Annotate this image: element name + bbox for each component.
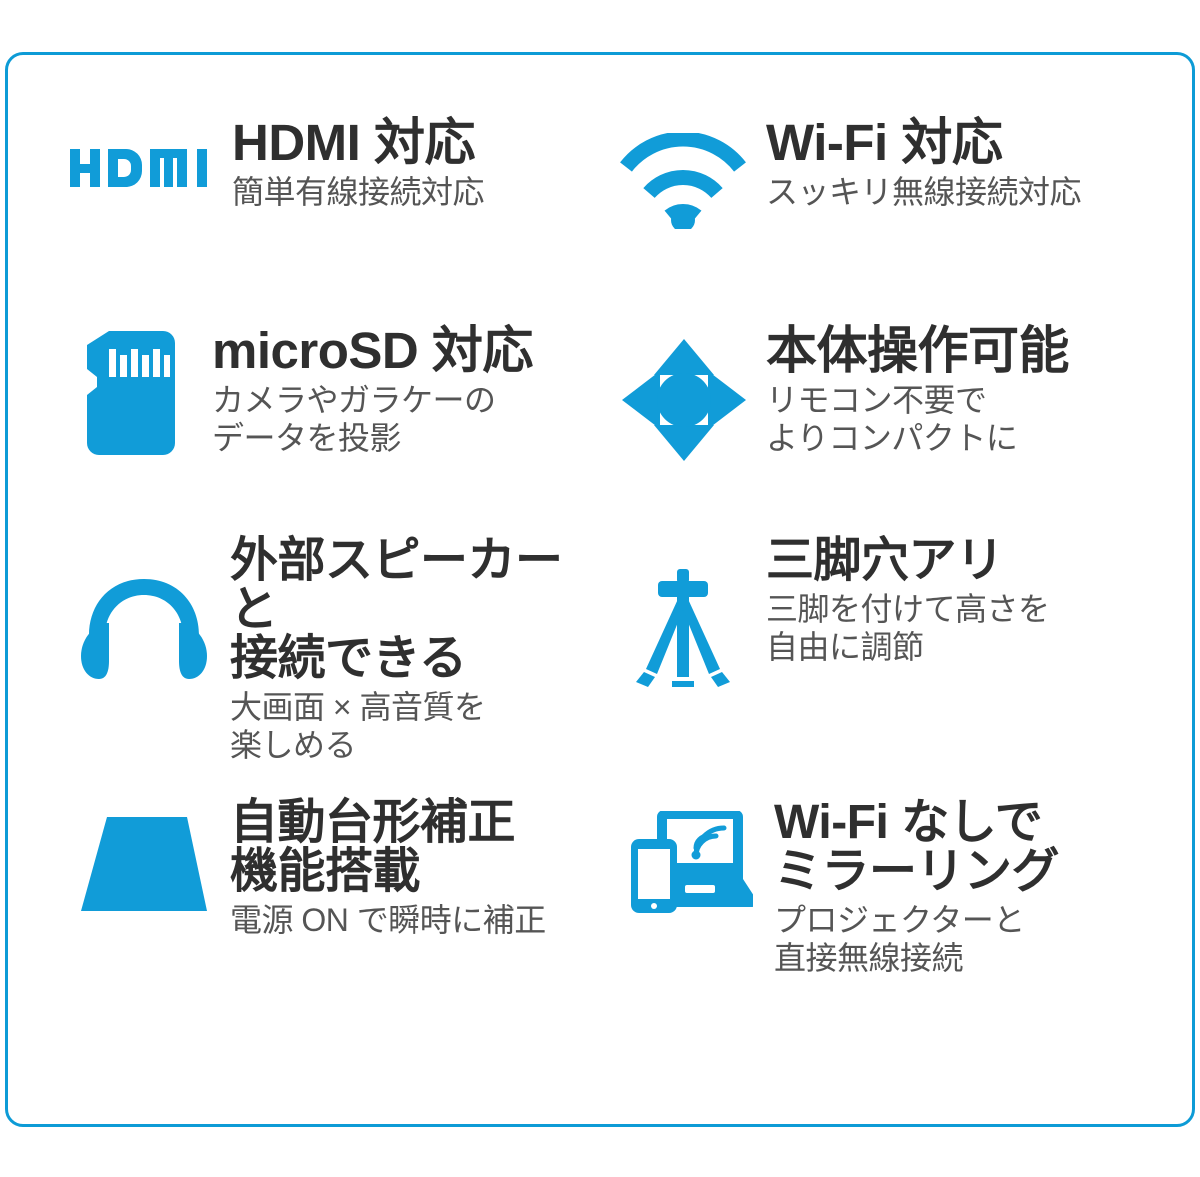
- microsd-card-icon: [70, 323, 192, 455]
- feature-item-tripod: 三脚穴アリ 三脚を付けて高さを 自由に調節: [600, 535, 1192, 797]
- feature-headline: Wi-Fi 対応: [766, 117, 1081, 169]
- feature-text-speaker: 外部スピーカーと 接続できる 大画面 × 高音質を 楽しめる: [230, 535, 600, 764]
- hdmi-logo-icon: [70, 115, 218, 191]
- feature-item-speaker: 外部スピーカーと 接続できる 大画面 × 高音質を 楽しめる: [8, 535, 600, 797]
- laptop-phone-cast-icon: [618, 797, 758, 915]
- feature-subtitle: 三脚を付けて高さを 自由に調節: [766, 591, 1050, 667]
- feature-text-wifi: Wi-Fi 対応 スッキリ無線接続対応: [766, 115, 1081, 212]
- feature-item-mirroring: Wi-Fi なしで ミラーリング プロジェクターと 直接無線接続: [600, 797, 1192, 1082]
- feature-headline: 三脚穴アリ: [766, 537, 1050, 586]
- headphones-icon: [70, 535, 218, 681]
- feature-text-keystone: 自動台形補正 機能搭載 電源 ON で瞬時に補正: [230, 797, 546, 940]
- feature-headline: 本体操作可能: [766, 325, 1069, 377]
- feature-grid: HDMI 対応 簡単有線接続対応 Wi-Fi 対応 スッキリ無線接続対応: [8, 55, 1192, 1124]
- feature-headline: microSD 対応: [212, 325, 533, 377]
- feature-subtitle: 電源 ON で瞬時に補正: [230, 902, 546, 940]
- feature-item-body-control: 本体操作可能 リモコン不要で よりコンパクトに: [600, 323, 1192, 535]
- feature-headline: HDMI 対応: [232, 117, 484, 169]
- tripod-icon: [618, 535, 748, 687]
- feature-subtitle: 大画面 × 高音質を 楽しめる: [230, 689, 600, 765]
- feature-item-microsd: microSD 対応 カメラやガラケーの データを投影: [8, 323, 600, 535]
- feature-text-tripod: 三脚穴アリ 三脚を付けて高さを 自由に調節: [766, 535, 1050, 666]
- feature-subtitle: リモコン不要で よりコンパクトに: [766, 382, 1069, 458]
- feature-subtitle: プロジェクターと 直接無線接続: [774, 902, 1059, 978]
- feature-subtitle: スッキリ無線接続対応: [766, 174, 1081, 212]
- feature-text-hdmi: HDMI 対応 簡単有線接続対応: [232, 115, 484, 212]
- trapezoid-keystone-icon: [70, 797, 218, 913]
- feature-item-wifi: Wi-Fi 対応 スッキリ無線接続対応: [600, 115, 1192, 323]
- feature-text-microsd: microSD 対応 カメラやガラケーの データを投影: [212, 323, 533, 458]
- feature-subtitle: カメラやガラケーの データを投影: [212, 382, 533, 458]
- feature-headline: 外部スピーカーと 接続できる: [230, 537, 600, 684]
- feature-text-body-control: 本体操作可能 リモコン不要で よりコンパクトに: [766, 323, 1069, 458]
- feature-headline: Wi-Fi なしで ミラーリング: [774, 799, 1059, 897]
- wifi-signal-icon: [618, 115, 748, 229]
- feature-item-hdmi: HDMI 対応 簡単有線接続対応: [8, 115, 600, 323]
- dpad-icon: [618, 323, 750, 465]
- feature-item-keystone: 自動台形補正 機能搭載 電源 ON で瞬時に補正: [8, 797, 600, 1082]
- feature-subtitle: 簡単有線接続対応: [232, 174, 484, 212]
- feature-card: HDMI 対応 簡単有線接続対応 Wi-Fi 対応 スッキリ無線接続対応: [5, 52, 1195, 1127]
- feature-headline: 自動台形補正 機能搭載: [230, 799, 546, 897]
- feature-text-mirroring: Wi-Fi なしで ミラーリング プロジェクターと 直接無線接続: [774, 797, 1059, 977]
